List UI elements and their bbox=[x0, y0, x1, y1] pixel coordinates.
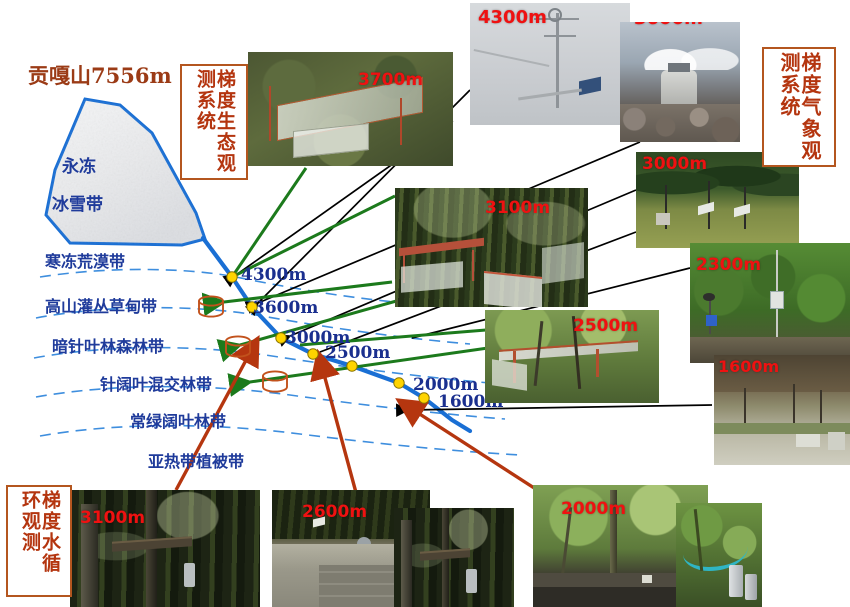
vegetation-zone-alpine-shrub-meadow: 高山灌丛草甸带 bbox=[45, 293, 157, 317]
photo-caption: 4300m bbox=[478, 7, 547, 28]
system-box-label: 梯度水循环观测 bbox=[19, 490, 59, 592]
photo-caption: 3600m bbox=[634, 22, 703, 29]
photo-photo-3700: 3700m bbox=[248, 52, 453, 166]
elevation-label-4300m: 4300m bbox=[241, 265, 306, 285]
photo-caption: 3000m bbox=[642, 154, 707, 174]
system-box-eco-observation: 梯度生态观测系统 bbox=[180, 64, 248, 180]
photo-photo-3100b: 3100m bbox=[70, 490, 260, 607]
photo-photo-3600: 3600m bbox=[620, 22, 740, 142]
glacier-zone-label-line1: 永冻 bbox=[62, 152, 96, 177]
glacier-zone-label-line2: 冰雪带 bbox=[52, 190, 103, 215]
photo-photo-1600: 1600m bbox=[714, 355, 850, 465]
photo-caption: 2300m bbox=[696, 255, 761, 275]
rain-gauge-icon bbox=[263, 371, 287, 391]
peak-label: 贡嘎山7556m bbox=[28, 60, 172, 90]
photo-caption: 3100m bbox=[80, 508, 145, 528]
vegetation-zone-subtropical-vegetation: 亚热带植被带 bbox=[148, 448, 244, 472]
vegetation-zone-mixed-conifer-broadleaf: 针阔叶混交林带 bbox=[100, 371, 212, 395]
system-box-label: 梯度生态观测系统 bbox=[194, 69, 234, 175]
photo-caption: 1600m bbox=[718, 357, 779, 376]
photo-photo-2500: 2500m bbox=[485, 310, 659, 403]
photo-photo-2600b bbox=[394, 508, 514, 607]
rain-gauge-icon bbox=[199, 296, 223, 316]
photo-photo-2300: 2300m bbox=[690, 243, 850, 363]
vegetation-zone-cold-frozen-desert: 寒冻荒漠带 bbox=[45, 248, 125, 272]
vegetation-zone-dark-coniferous-forest: 暗针叶林森林带 bbox=[52, 333, 164, 357]
photo-caption: 2500m bbox=[573, 316, 638, 336]
photo-photo-3100: 3100m bbox=[395, 188, 588, 307]
rain-gauge-icon bbox=[226, 336, 250, 356]
photo-caption: 3700m bbox=[358, 70, 423, 90]
elevation-label-2500m: 2500m bbox=[325, 343, 390, 363]
photo-caption: 2000m bbox=[561, 499, 626, 519]
system-box-meteorological-observation: 梯度气象观测系统 bbox=[762, 47, 836, 167]
elevation-label-3600m: 3600m bbox=[253, 298, 318, 318]
photo-caption: 2600m bbox=[302, 502, 367, 522]
system-box-label: 梯度气象观测系统 bbox=[778, 52, 820, 162]
photo-photo-2000b bbox=[676, 503, 762, 607]
system-box-water-cycle-observation: 梯度水循环观测 bbox=[6, 485, 72, 597]
photo-photo-4300: 4300m bbox=[470, 3, 630, 125]
diagram-canvas: 贡嘎山7556m 永冻 冰雪带 寒冻荒漠带高山灌丛草甸带暗针叶林森林带针阔叶混交… bbox=[0, 0, 850, 607]
photo-caption: 3100m bbox=[485, 198, 550, 218]
vegetation-zone-evergreen-broadleaf: 常绿阔叶林带 bbox=[130, 408, 226, 432]
